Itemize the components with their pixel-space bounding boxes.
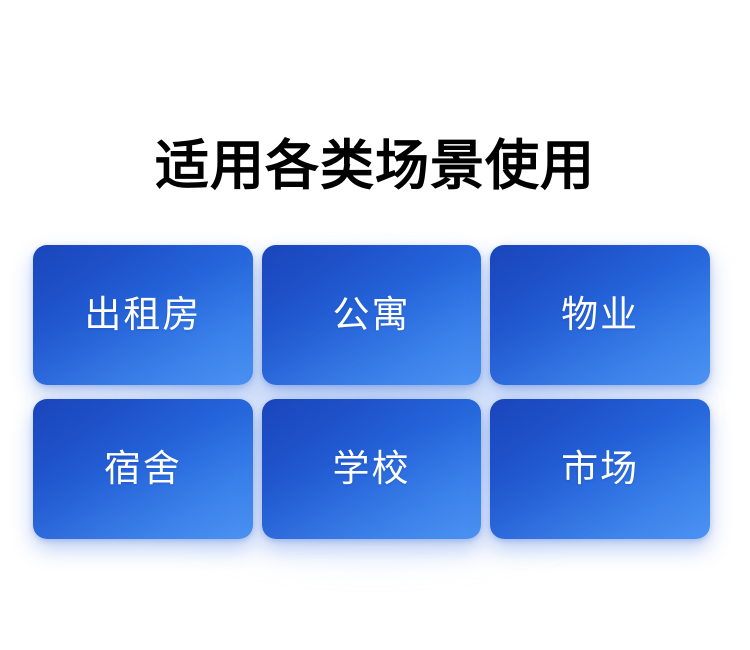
page-title: 适用各类场景使用: [0, 132, 750, 200]
scene-card-dormitory[interactable]: 宿舍: [33, 399, 253, 539]
scene-card-label: 市场: [561, 447, 639, 491]
scene-card-market[interactable]: 市场: [490, 399, 710, 539]
scene-card-property[interactable]: 物业: [490, 245, 710, 385]
scene-card-label: 公寓: [332, 293, 410, 337]
scene-card-rental-house[interactable]: 出租房: [33, 245, 253, 385]
scene-card-label: 宿舍: [104, 447, 182, 491]
scene-card-label: 学校: [332, 447, 410, 491]
scene-card-label: 物业: [561, 293, 639, 337]
scene-card-label: 出租房: [84, 293, 201, 337]
scene-card-grid: 出租房 公寓 物业 宿舍 学校 市场: [33, 245, 710, 539]
scene-showcase-page: 适用各类场景使用 出租房 公寓 物业 宿舍 学校 市场: [0, 0, 750, 650]
scene-card-apartment[interactable]: 公寓: [262, 245, 482, 385]
scene-card-school[interactable]: 学校: [262, 399, 482, 539]
